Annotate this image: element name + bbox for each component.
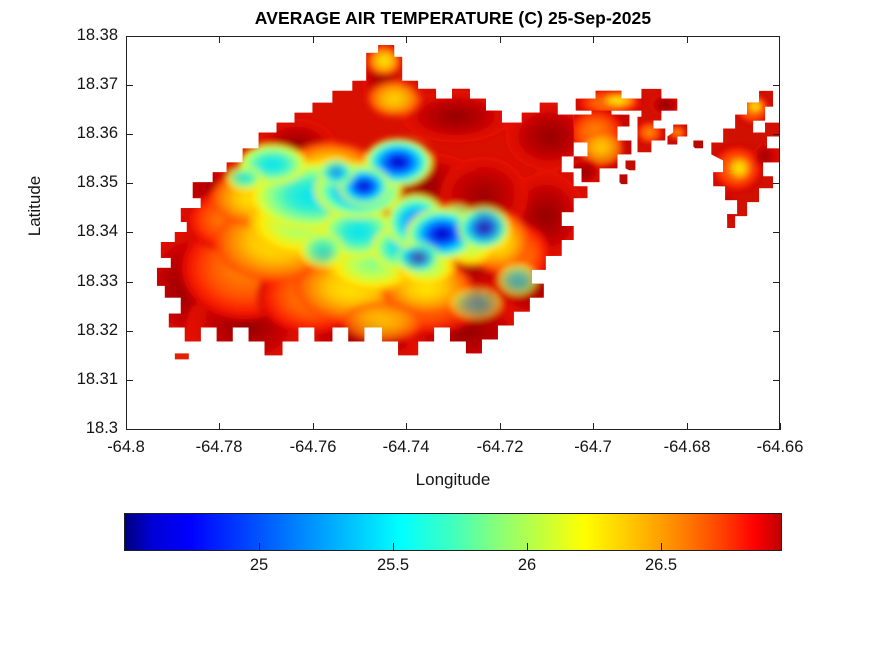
island-east bbox=[700, 82, 779, 241]
ytick-mark-right bbox=[773, 380, 780, 381]
xtick-mark-top bbox=[687, 36, 688, 43]
colorbar[interactable] bbox=[124, 513, 782, 551]
ytick-mark bbox=[126, 134, 133, 135]
xtick-mark bbox=[313, 423, 314, 430]
xtick-mark bbox=[780, 423, 781, 430]
xtick-mark bbox=[219, 423, 220, 430]
xtick-mark-top bbox=[406, 36, 407, 43]
ytick-label-18-37: 18.37 bbox=[10, 75, 118, 94]
colorbar-tick bbox=[661, 543, 662, 551]
colorbar-label-25: 25 bbox=[204, 556, 314, 575]
xtick-mark bbox=[593, 423, 594, 430]
colorbar-gradient bbox=[124, 513, 782, 551]
island-tortola bbox=[127, 37, 779, 429]
colorbar-label-25-5: 25.5 bbox=[338, 556, 448, 575]
ytick-mark bbox=[126, 232, 133, 233]
xtick-mark-top bbox=[313, 36, 314, 43]
page-title: AVERAGE AIR TEMPERATURE (C) 25-Sep-2025 bbox=[126, 8, 780, 29]
xtick-label-8: -64.66 bbox=[725, 438, 835, 457]
ytick-mark bbox=[126, 429, 133, 430]
colorbar-tick bbox=[393, 543, 394, 551]
ytick-mark-right bbox=[773, 232, 780, 233]
ytick-mark-right bbox=[773, 282, 780, 283]
colorbar-label-26-5: 26.5 bbox=[606, 556, 716, 575]
xtick-mark-top bbox=[593, 36, 594, 43]
x-axis-label: Longitude bbox=[126, 470, 780, 490]
xtick-mark-top bbox=[219, 36, 220, 43]
colorbar-tick bbox=[527, 543, 528, 551]
y-axis-label: Latitude bbox=[25, 126, 45, 286]
ytick-label-18-32: 18.32 bbox=[10, 321, 118, 340]
ytick-label-18-31: 18.31 bbox=[10, 370, 118, 389]
ytick-mark-right bbox=[773, 134, 780, 135]
ytick-mark bbox=[126, 36, 133, 37]
colorbar-label-26: 26 bbox=[472, 556, 582, 575]
ytick-mark bbox=[126, 282, 133, 283]
islet-southwest bbox=[171, 349, 195, 365]
temperature-heatmap bbox=[127, 37, 779, 429]
colorbar-tick bbox=[259, 543, 260, 551]
ytick-mark bbox=[126, 331, 133, 332]
ytick-mark-right bbox=[773, 183, 780, 184]
ytick-mark bbox=[126, 183, 133, 184]
xtick-mark bbox=[500, 423, 501, 430]
ytick-mark-right bbox=[773, 85, 780, 86]
xtick-mark-top bbox=[500, 36, 501, 43]
map-axes[interactable] bbox=[126, 36, 780, 430]
xtick-mark bbox=[406, 423, 407, 430]
xtick-mark bbox=[687, 423, 688, 430]
ytick-label-18-3: 18.3 bbox=[10, 419, 118, 438]
ytick-mark-right bbox=[773, 331, 780, 332]
figure-canvas: AVERAGE AIR TEMPERATURE (C) 25-Sep-2025 bbox=[0, 0, 875, 656]
xtick-mark bbox=[126, 423, 127, 430]
ytick-label-18-38: 18.38 bbox=[10, 26, 118, 45]
ytick-mark bbox=[126, 85, 133, 86]
ytick-mark bbox=[126, 380, 133, 381]
